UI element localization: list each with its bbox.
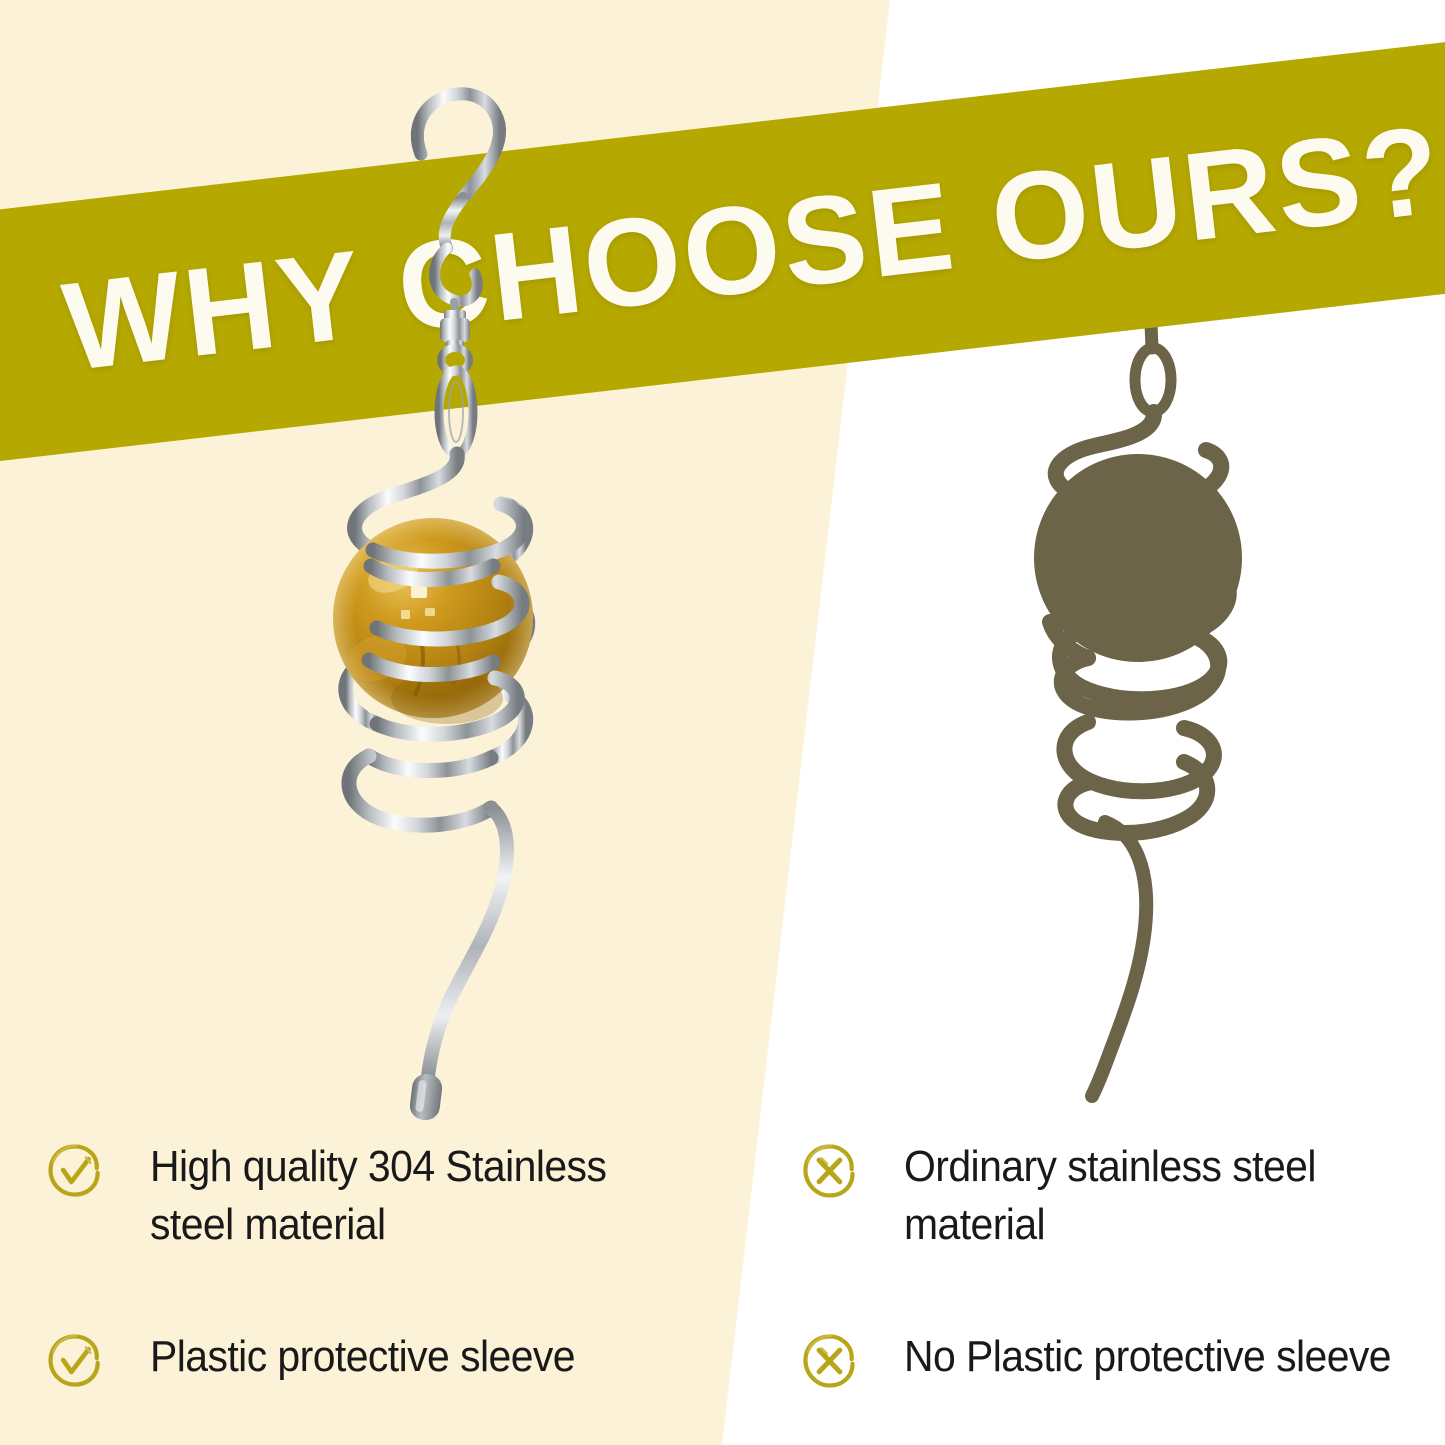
product-premium-spinner (225, 62, 645, 1102)
list-item: High quality 304 Stainless steel materia… (46, 1138, 736, 1254)
swivel-assembly (440, 310, 470, 372)
list-item: No Plastic protective sleeve (800, 1328, 1440, 1390)
con-text: Ordinary stainless steel material (904, 1138, 1402, 1254)
s-hook-eye (435, 248, 478, 301)
cross-circle-icon (800, 1142, 858, 1200)
pros-list: High quality 304 Stainless steel materia… (46, 1138, 736, 1390)
cons-list: Ordinary stainless steel material No Pla… (800, 1138, 1440, 1390)
s-hook-top (417, 94, 499, 198)
spiral-tail (427, 808, 507, 1086)
list-item: Plastic protective sleeve (46, 1328, 736, 1390)
check-circle-icon (46, 1142, 104, 1200)
infographic-canvas: WHY CHOOSE OURS? (0, 0, 1445, 1445)
chain-link (1135, 348, 1171, 412)
check-circle-icon (46, 1332, 104, 1390)
con-text: No Plastic protective sleeve (904, 1328, 1391, 1386)
pro-text: Plastic protective sleeve (150, 1328, 575, 1386)
pro-text: High quality 304 Stainless steel materia… (150, 1138, 695, 1254)
chain-link (439, 370, 473, 454)
list-item: Ordinary stainless steel material (800, 1138, 1440, 1254)
tail-taper (1092, 822, 1146, 1096)
s-hook-bend (445, 198, 463, 248)
cross-circle-icon (800, 1332, 858, 1390)
